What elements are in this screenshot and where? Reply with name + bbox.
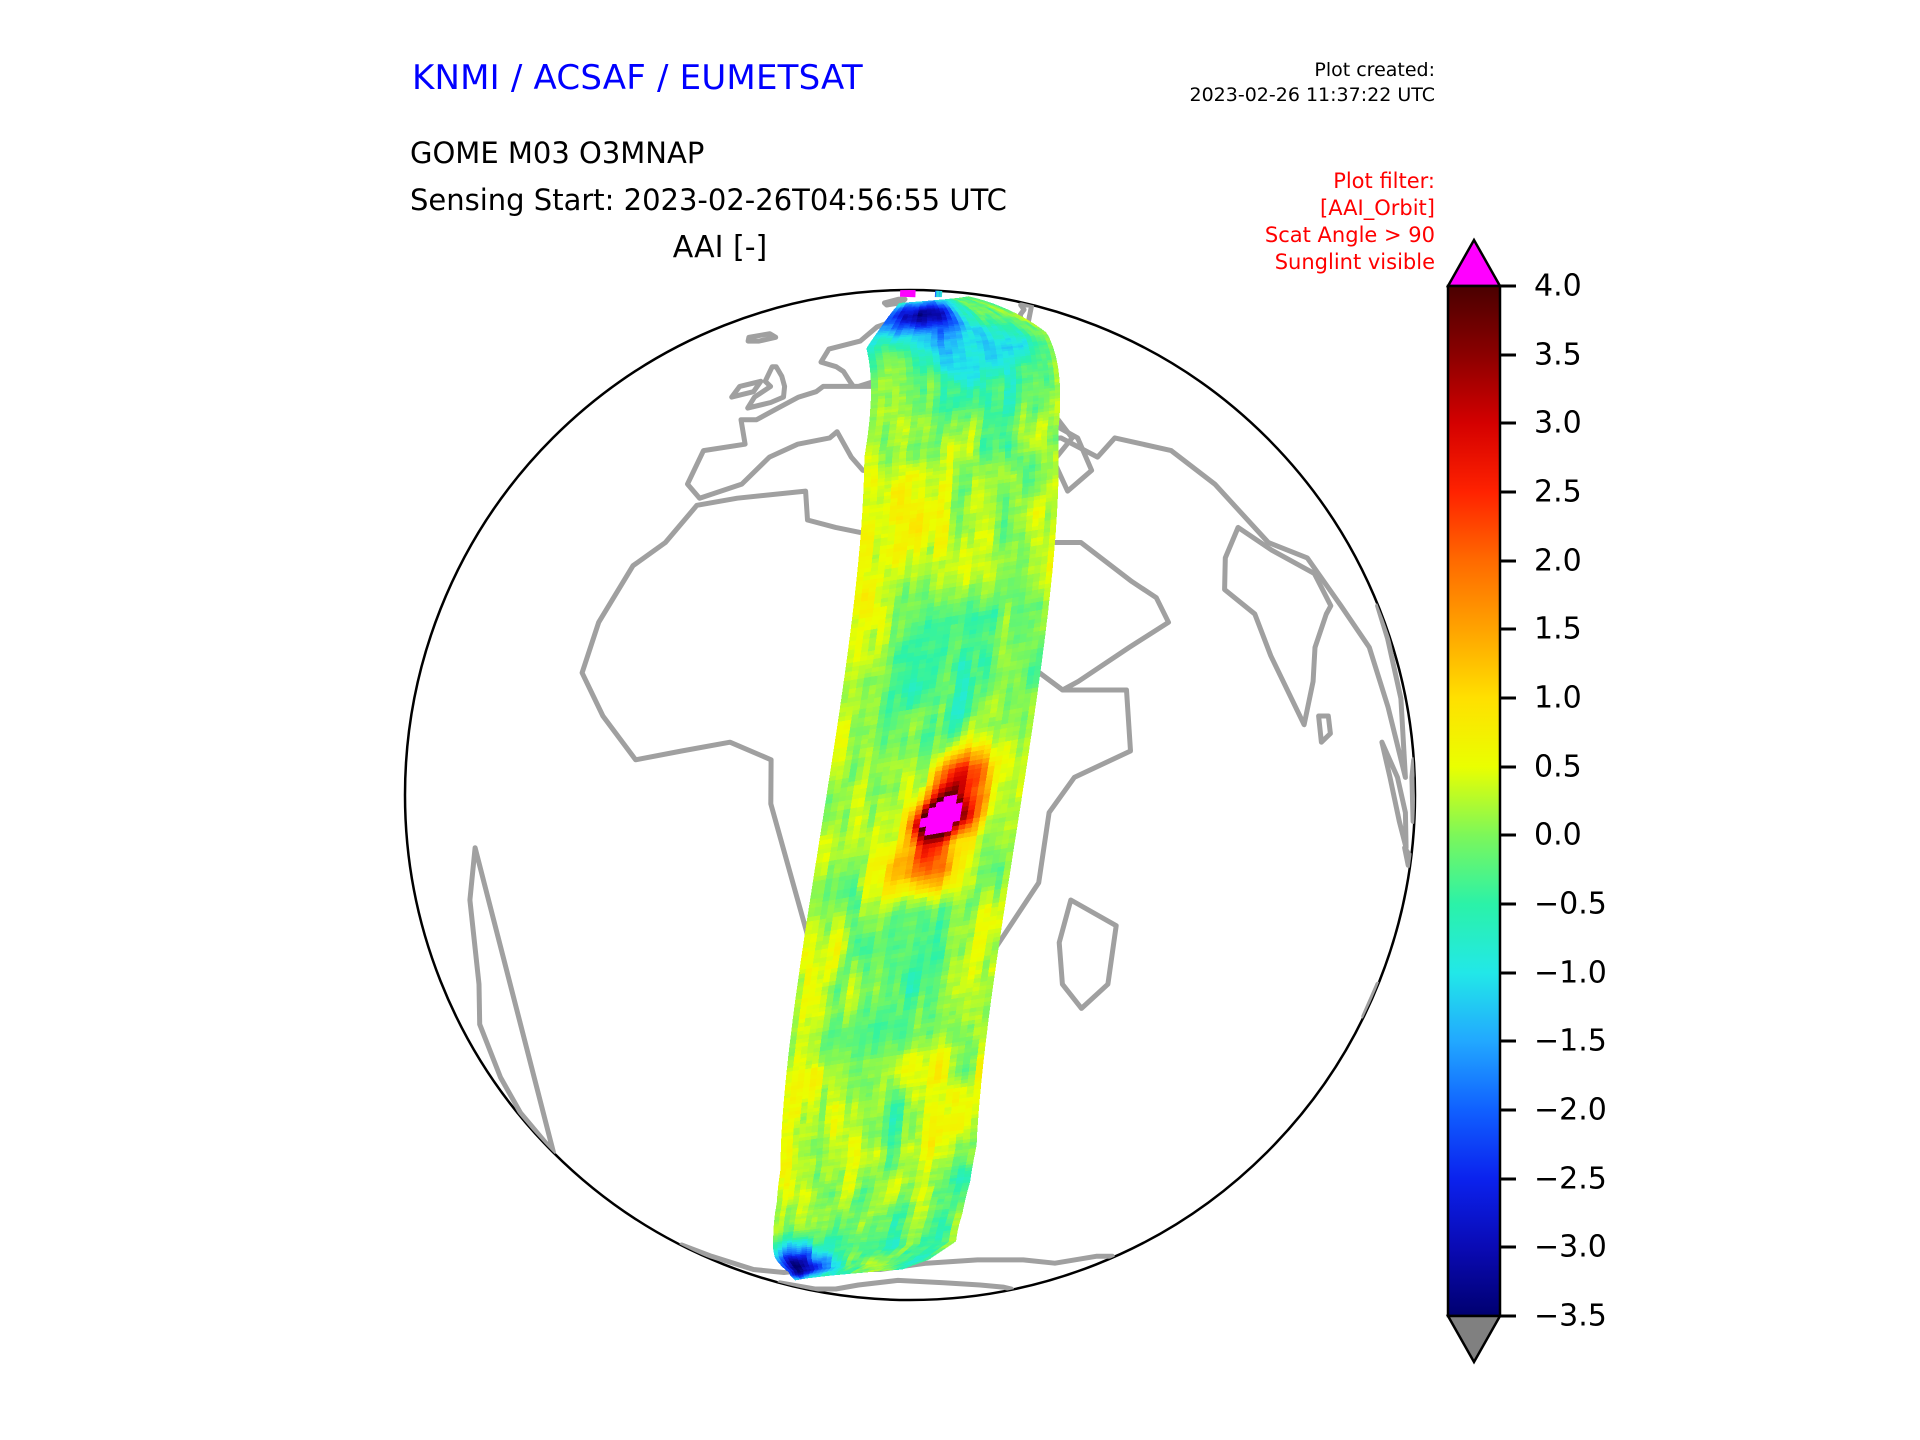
plot-page: KNMI / ACSAF / EUMETSAT GOME M03 O3MNAP …	[0, 0, 1920, 1440]
swath-pixel	[1051, 357, 1056, 360]
product-title: GOME M03 O3MNAP	[410, 136, 704, 170]
swath-pixel	[954, 313, 959, 315]
plot-created-time: 2023-02-26 11:37:22 UTC	[1190, 83, 1436, 108]
swath-pixel	[956, 317, 961, 319]
plot-created-block: Plot created: 2023-02-26 11:37:22 UTC	[1190, 58, 1436, 108]
swath-pixel	[932, 313, 937, 315]
coastline-path	[1412, 760, 1414, 822]
plot-filter-line: [AAI_Orbit]	[1265, 195, 1435, 222]
swath-pixel	[941, 314, 946, 316]
coastline-path	[748, 334, 776, 341]
plot-created-label: Plot created:	[1190, 58, 1436, 83]
globe-map	[400, 280, 1420, 1310]
swath-pixel	[977, 329, 983, 331]
plot-filter-line: Sunglint visible	[1265, 249, 1435, 276]
organisation-title: KNMI / ACSAF / EUMETSAT	[412, 58, 863, 98]
plot-filter-title: Plot filter:	[1265, 168, 1435, 195]
plot-filter-line: Scat Angle > 90	[1265, 222, 1435, 249]
swath-pixel	[940, 313, 945, 315]
plot-filter-block: Plot filter: [AAI_Orbit] Scat Angle > 90…	[1265, 168, 1435, 276]
globe-svg	[400, 280, 1420, 1310]
sensing-start-text: Sensing Start: 2023-02-26T04:56:55 UTC	[410, 183, 1007, 217]
quantity-title: AAI [-]	[0, 230, 1440, 265]
